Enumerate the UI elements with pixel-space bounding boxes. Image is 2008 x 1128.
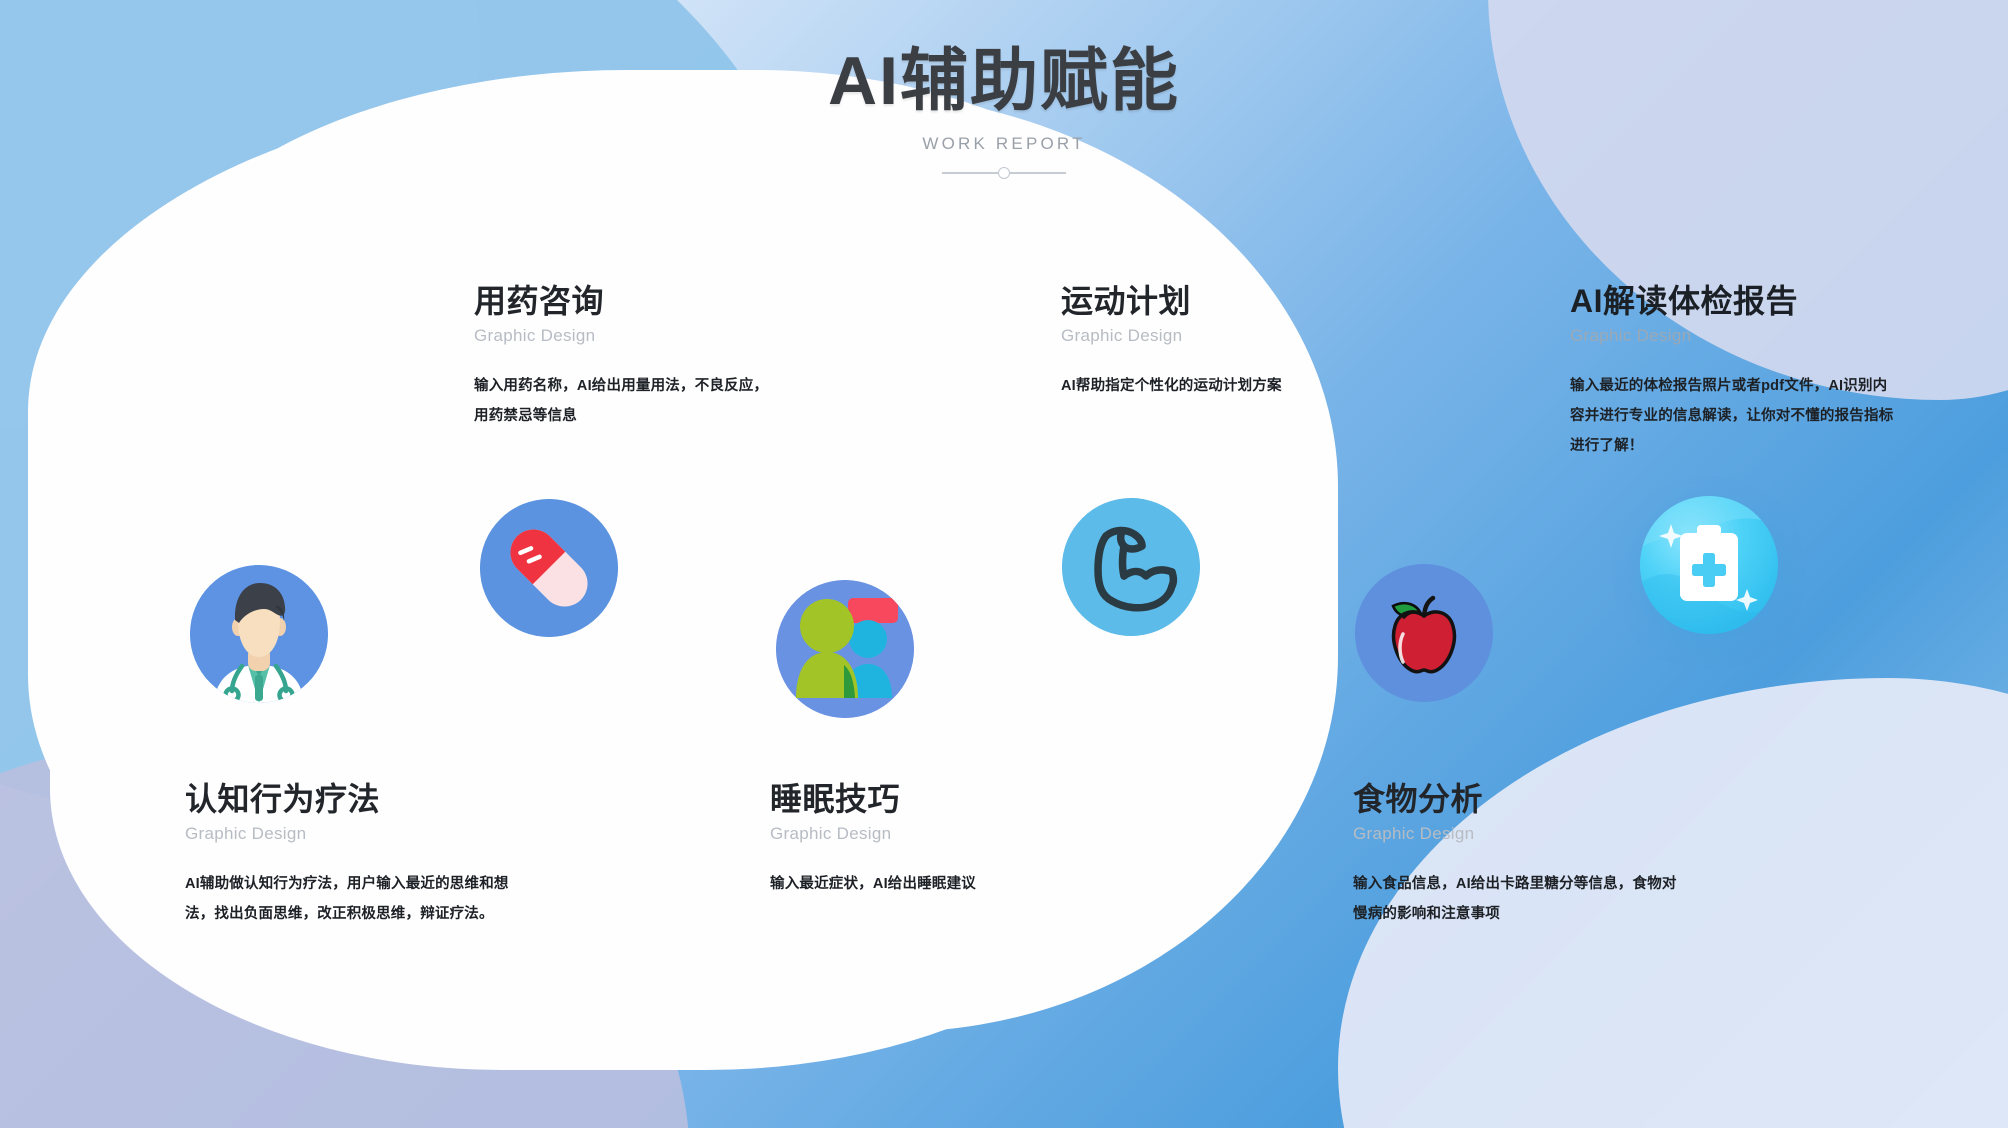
- people-chat-icon: [776, 580, 914, 718]
- feature-body: 输入最近的体检报告照片或者pdf文件，AI识别内容并进行专业的信息解读，让你对不…: [1570, 372, 1900, 461]
- feature-caption: Graphic Design: [1061, 326, 1282, 346]
- feature-caption: Graphic Design: [474, 326, 774, 346]
- feature-caption: Graphic Design: [1353, 824, 1683, 844]
- pill-icon: [480, 499, 618, 637]
- feature-cbt: 认知行为疗法 Graphic Design AI辅助做认知行为疗法，用户输入最近…: [185, 780, 515, 930]
- feature-heading: AI解读体检报告: [1570, 282, 1900, 320]
- feature-heading: 认知行为疗法: [185, 780, 515, 818]
- feature-caption: Graphic Design: [1570, 326, 1900, 346]
- slide-canvas: AI辅助赋能 WORK REPORT 用药咨询 Graphic Design 输…: [0, 0, 2008, 1128]
- page-subtitle: WORK REPORT: [0, 134, 2008, 154]
- feature-health-report: AI解读体检报告 Graphic Design 输入最近的体检报告照片或者pdf…: [1570, 282, 1900, 462]
- feature-body: 输入用药名称，AI给出用量用法，不良反应，用药禁忌等信息: [474, 372, 774, 431]
- muscle-icon: [1062, 498, 1200, 636]
- feature-heading: 食物分析: [1353, 780, 1683, 818]
- medical-clipboard-icon: [1640, 496, 1778, 634]
- feature-body: 输入最近症状，AI给出睡眠建议: [770, 870, 976, 900]
- feature-body: AI辅助做认知行为疗法，用户输入最近的思维和想法，找出负面思维，改正积极思维，辩…: [185, 870, 515, 929]
- feature-sport-plan: 运动计划 Graphic Design AI帮助指定个性化的运动计划方案: [1061, 282, 1282, 402]
- feature-sleep: 睡眠技巧 Graphic Design 输入最近症状，AI给出睡眠建议: [770, 780, 976, 900]
- header-divider: [942, 166, 1066, 180]
- apple-glyph: [1355, 564, 1493, 702]
- slide-header: AI辅助赋能 WORK REPORT: [0, 42, 2008, 180]
- medical-clipboard-glyph: [1640, 496, 1778, 634]
- muscle-glyph: [1062, 498, 1200, 636]
- white-content-card-lower: [50, 430, 1180, 1070]
- feature-food: 食物分析 Graphic Design 输入食品信息，AI给出卡路里糖分等信息，…: [1353, 780, 1683, 930]
- feature-caption: Graphic Design: [185, 824, 515, 844]
- apple-icon: [1355, 564, 1493, 702]
- people-chat-glyph: [776, 580, 914, 718]
- feature-body: 输入食品信息，AI给出卡路里糖分等信息，食物对慢病的影响和注意事项: [1353, 870, 1683, 929]
- feature-medication: 用药咨询 Graphic Design 输入用药名称，AI给出用量用法，不良反应…: [474, 282, 774, 432]
- page-title: AI辅助赋能: [0, 42, 2008, 120]
- divider-dot-icon: [998, 167, 1010, 179]
- doctor-avatar-glyph: [190, 565, 328, 703]
- pill-glyph: [480, 499, 618, 637]
- doctor-avatar-icon: [190, 565, 328, 703]
- feature-caption: Graphic Design: [770, 824, 976, 844]
- feature-body: AI帮助指定个性化的运动计划方案: [1061, 372, 1282, 402]
- feature-heading: 运动计划: [1061, 282, 1282, 320]
- feature-heading: 用药咨询: [474, 282, 774, 320]
- feature-heading: 睡眠技巧: [770, 780, 976, 818]
